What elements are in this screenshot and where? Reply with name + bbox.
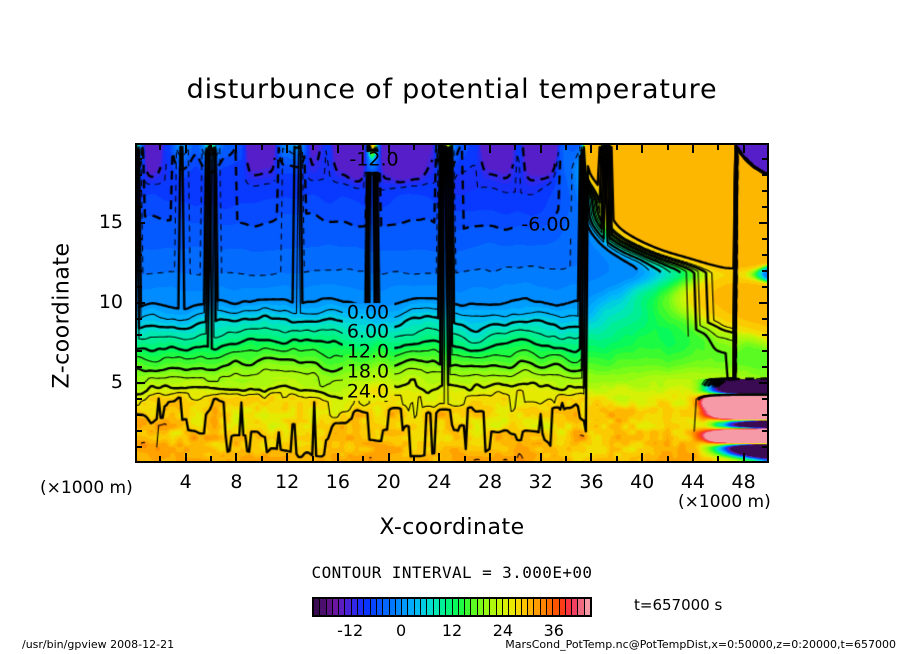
x-tick-bottom (388, 453, 390, 462)
contour-label: -6.00 (518, 216, 573, 235)
x-tick-bottom (717, 456, 719, 462)
x-tick-top (261, 144, 263, 150)
z-tick-left (136, 270, 142, 272)
z-tick-right (762, 286, 768, 288)
colorbar (312, 597, 592, 617)
contour-plot-panel (135, 143, 769, 463)
z-tick-left (136, 382, 145, 384)
z-tick-left (136, 334, 142, 336)
z-tick-left (136, 254, 142, 256)
plot-page: disturbunce of potential temperature 481… (0, 0, 904, 654)
contour-label: 12.0 (344, 343, 392, 362)
contour-lines-canvas (137, 145, 767, 461)
contour-interval-label: CONTOUR INTERVAL = 3.000E+00 (0, 563, 904, 582)
x-tick-top (540, 144, 542, 153)
x-tick-top (717, 144, 719, 150)
time-label: t=657000 s (634, 596, 722, 614)
x-axis-unit-label: (×1000 m) (678, 492, 771, 512)
z-tick-right (759, 382, 768, 384)
z-tick-right (762, 270, 768, 272)
z-tick-right (762, 318, 768, 320)
x-tick-bottom (667, 456, 669, 462)
z-tick-left (136, 430, 142, 432)
z-tick-right (762, 350, 768, 352)
x-tick-bottom (312, 456, 314, 462)
x-tick-top (312, 144, 314, 150)
z-tick-left (136, 398, 142, 400)
z-tick-left (136, 286, 142, 288)
x-tick-bottom (438, 453, 440, 462)
x-tick-label: 48 (714, 471, 774, 493)
contour-label: 18.0 (344, 363, 392, 382)
z-tick-right (762, 238, 768, 240)
x-tick-top (159, 144, 161, 150)
x-tick-bottom (616, 456, 618, 462)
contour-label: 6.00 (344, 323, 392, 342)
z-tick-left (136, 238, 142, 240)
footer-command-label: /usr/bin/gpview 2008-12-21 (22, 638, 174, 651)
x-tick-bottom (743, 453, 745, 462)
z-tick-right (759, 222, 768, 224)
y-axis-title: Z-coordinate (50, 216, 75, 416)
z-tick-right (762, 414, 768, 416)
x-tick-bottom (185, 453, 187, 462)
z-tick-right (762, 174, 768, 176)
z-tick-right (762, 446, 768, 448)
z-tick-right (762, 190, 768, 192)
x-tick-top (413, 144, 415, 150)
z-tick-left (136, 190, 142, 192)
x-axis-title: X-coordinate (0, 515, 904, 540)
z-tick-right (762, 398, 768, 400)
x-tick-top (210, 144, 212, 150)
x-tick-top (667, 144, 669, 150)
z-tick-left (136, 366, 142, 368)
x-tick-top (464, 144, 466, 150)
z-tick-left (136, 414, 142, 416)
x-tick-top (235, 144, 237, 153)
z-tick-left (136, 302, 145, 304)
z-tick-left (136, 222, 145, 224)
z-tick-left (136, 318, 142, 320)
z-tick-right (762, 254, 768, 256)
x-tick-bottom (692, 453, 694, 462)
x-tick-top (565, 144, 567, 150)
x-tick-bottom (489, 453, 491, 462)
z-tick-right (762, 206, 768, 208)
x-tick-top (590, 144, 592, 153)
x-tick-top (185, 144, 187, 153)
x-tick-bottom (286, 453, 288, 462)
z-tick-left (136, 158, 142, 160)
z-tick-left (136, 206, 142, 208)
x-tick-top (743, 144, 745, 153)
z-tick-left (136, 446, 142, 448)
z-tick-right (762, 158, 768, 160)
page-title: disturbunce of potential temperature (0, 74, 904, 105)
x-tick-bottom (413, 456, 415, 462)
z-tick-left (136, 174, 142, 176)
x-tick-bottom (362, 456, 364, 462)
x-tick-bottom (464, 456, 466, 462)
x-tick-bottom (337, 453, 339, 462)
z-axis-unit-label: (×1000 m) (40, 478, 133, 498)
x-tick-top (337, 144, 339, 153)
z-tick-right (762, 334, 768, 336)
x-tick-bottom (641, 453, 643, 462)
contour-label: -12.0 (346, 151, 401, 170)
z-tick-right (759, 302, 768, 304)
x-tick-top (641, 144, 643, 153)
x-tick-bottom (235, 453, 237, 462)
x-tick-bottom (540, 453, 542, 462)
x-tick-bottom (210, 456, 212, 462)
footer-dataset-label: MarsCond_PotTemp.nc@PotTempDist,x=0:5000… (505, 638, 896, 651)
z-tick-right (762, 430, 768, 432)
x-tick-bottom (565, 456, 567, 462)
x-tick-top (692, 144, 694, 153)
x-tick-top (616, 144, 618, 150)
contour-label: 24.0 (344, 383, 392, 402)
x-tick-bottom (590, 453, 592, 462)
x-tick-bottom (514, 456, 516, 462)
z-tick-left (136, 350, 142, 352)
z-tick-right (762, 366, 768, 368)
colorbar-band (585, 599, 590, 615)
x-tick-top (489, 144, 491, 153)
x-tick-top (438, 144, 440, 153)
x-tick-bottom (159, 456, 161, 462)
x-tick-top (286, 144, 288, 153)
x-tick-bottom (261, 456, 263, 462)
x-tick-top (514, 144, 516, 150)
